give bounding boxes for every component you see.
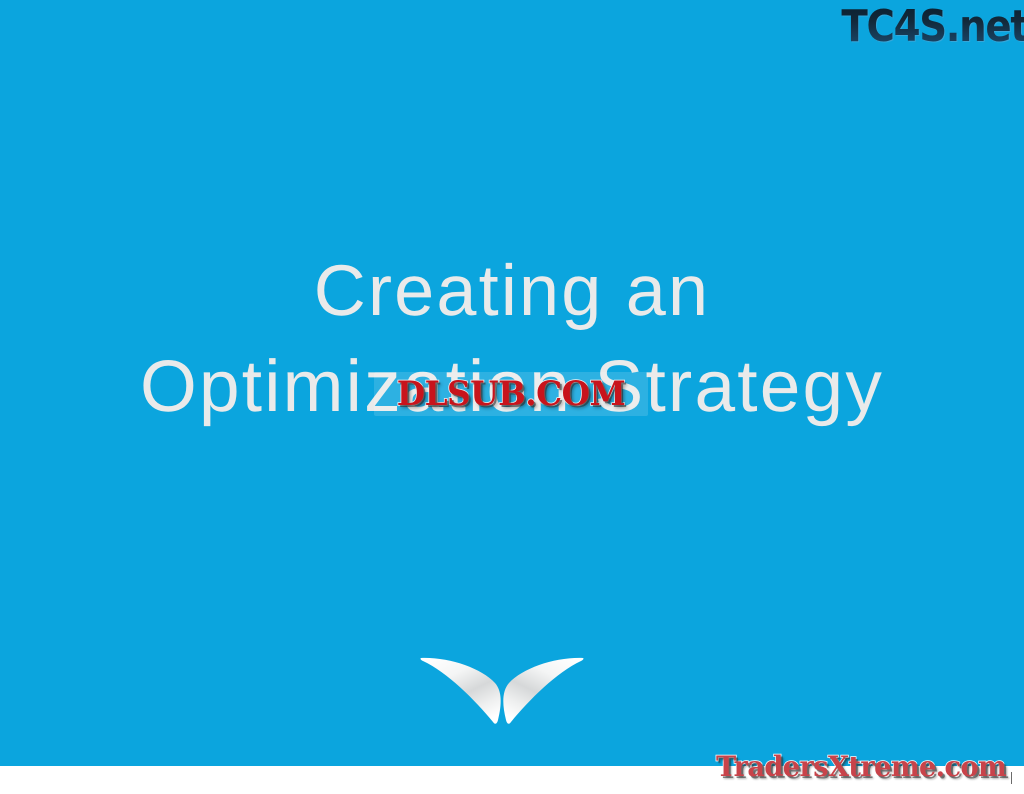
presentation-slide: Creating an Optimization Strategy xyxy=(0,0,1024,794)
wing-chevron-logo xyxy=(419,650,585,728)
slide-title-line-1: Creating an xyxy=(0,243,1024,339)
watermark-tc4s: TC4S.net xyxy=(842,2,1024,52)
watermark-dlsub-text: DLSUB.COM xyxy=(379,372,642,416)
watermark-tradersxtreme: TradersXtreme.com xyxy=(716,748,1009,786)
wing-left xyxy=(421,658,501,724)
wing-right xyxy=(503,658,583,724)
watermark-tick-mark xyxy=(1011,772,1012,784)
watermark-dlsub-plate: DLSUB.COM xyxy=(374,372,648,416)
